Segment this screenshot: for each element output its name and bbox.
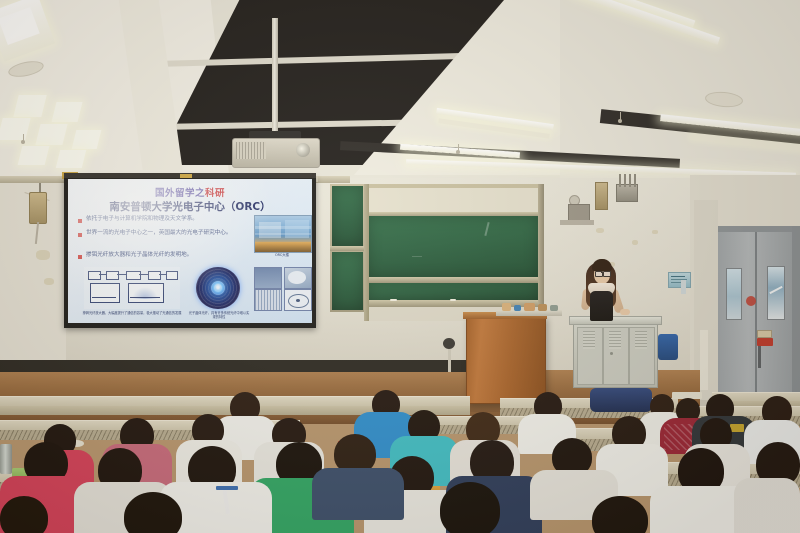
chalk-mark-2 (412, 256, 422, 257)
door-handle-plate[interactable] (757, 330, 772, 338)
projector-mount-pole (272, 18, 278, 136)
fire-alarm-icon (746, 296, 756, 306)
cabinet-lock-icon[interactable] (610, 352, 613, 355)
desk-item-4[interactable] (550, 305, 558, 311)
student-shirt-logo (730, 424, 744, 432)
student-head (440, 482, 500, 533)
chalkboard (330, 184, 580, 319)
screen-glare (68, 179, 312, 323)
glasses-bridge (601, 272, 603, 273)
chalkboard-panel-left-bottom (332, 252, 363, 310)
bracket-rod-1 (619, 174, 621, 187)
presenter-dress (590, 291, 613, 321)
chalk-piece-1[interactable] (390, 299, 397, 301)
student-head (0, 496, 48, 533)
screen-center-bracket (180, 174, 192, 178)
ceiling-panel-light-6 (18, 146, 50, 165)
notice-line-1 (671, 276, 685, 277)
door-frame-right (792, 226, 800, 400)
cabinet-vent-3 (635, 331, 647, 349)
chalkboard-right-post (538, 184, 544, 321)
student-torso (734, 478, 800, 533)
door-double[interactable] (716, 226, 795, 400)
ceiling-panel-light-1 (13, 95, 46, 117)
cabinet-top-surface (569, 316, 662, 325)
cable-conduit (448, 348, 451, 372)
wall-mark-1 (36, 250, 50, 260)
student-torso (312, 468, 404, 520)
sprinkler-icon-3 (456, 150, 460, 154)
ceiling-panel-light-7 (56, 150, 86, 168)
chalk-piece-2[interactable] (450, 299, 456, 301)
chalkboard-panel-left-top (332, 186, 363, 246)
wall-hanging-fixture (29, 192, 47, 224)
door-window-left (726, 268, 742, 320)
ceiling-panel-light-4 (35, 124, 67, 145)
metal-rod-bracket (616, 184, 638, 202)
bracket-rod-2 (624, 174, 626, 187)
thermos-silver[interactable] (0, 444, 12, 474)
cabinet-vent-1 (583, 331, 595, 349)
desk-item-2[interactable] (524, 303, 535, 311)
slide-surface: 国外留学之科研 南安普顿大学光电子中心（ORC） 依托于电子与计算机学院和物理及… (68, 179, 312, 323)
ceiling (0, 0, 800, 185)
sprinkler-icon-1 (21, 140, 25, 144)
wall-pilaster (700, 330, 708, 390)
stage-baseboard (0, 360, 470, 372)
desk-item-1[interactable] (502, 303, 511, 311)
wall-edge-trim (681, 280, 686, 294)
chalk-mark-1 (484, 222, 489, 236)
chalkboard-panel-main (368, 216, 538, 278)
chalkboard-upper-white-panel (368, 188, 538, 214)
desk-item-3[interactable] (538, 304, 547, 311)
bracket-rod-4 (634, 174, 636, 187)
door-push-bar[interactable] (757, 338, 773, 346)
wall-mark-2 (44, 278, 54, 285)
chalkboard-left-divider (330, 246, 366, 251)
chalkboard-left-post (364, 184, 369, 321)
bracket-rod-3 (629, 174, 631, 187)
door-window-reflection (769, 286, 782, 294)
door-window-right (767, 266, 785, 320)
wooden-hanging-fixture (595, 182, 608, 210)
cabinet-vent-2 (609, 331, 621, 349)
glasses-lens-right (603, 271, 611, 277)
lanyard-badge (216, 486, 238, 490)
desk-item-blue[interactable] (514, 305, 521, 311)
podium[interactable] (466, 316, 546, 404)
projector-lens (296, 143, 310, 157)
sprinkler-icon-2 (618, 119, 622, 123)
door-center-seam (755, 232, 757, 400)
blue-chair[interactable] (658, 334, 678, 360)
wall-mark-4 (632, 240, 638, 245)
presenter-fringe (592, 259, 612, 271)
projector-vent (236, 142, 266, 159)
wall-notice-plate (668, 272, 691, 288)
navy-backpack[interactable] (590, 388, 652, 412)
wall-speaker-small-icon (443, 338, 455, 349)
wall-mark-6 (596, 228, 604, 233)
door-lever-handle[interactable] (758, 346, 761, 368)
classroom-photo: 国外留学之科研 南安普顿大学光电子中心（ORC） 依托于电子与计算机学院和物理及… (0, 0, 800, 533)
ceiling-panel-light-2 (52, 102, 83, 122)
chalkboard-panel-lower (368, 283, 538, 300)
projection-screen: 国外留学之科研 南安普顿大学光电子中心（ORC） 依托于电子与计算机学院和物理及… (64, 176, 316, 328)
presenter-hand (620, 309, 630, 315)
metal-cabinet[interactable] (573, 320, 658, 388)
ceiling-panel-light-5 (72, 130, 102, 149)
wall-mark-5 (652, 230, 658, 234)
